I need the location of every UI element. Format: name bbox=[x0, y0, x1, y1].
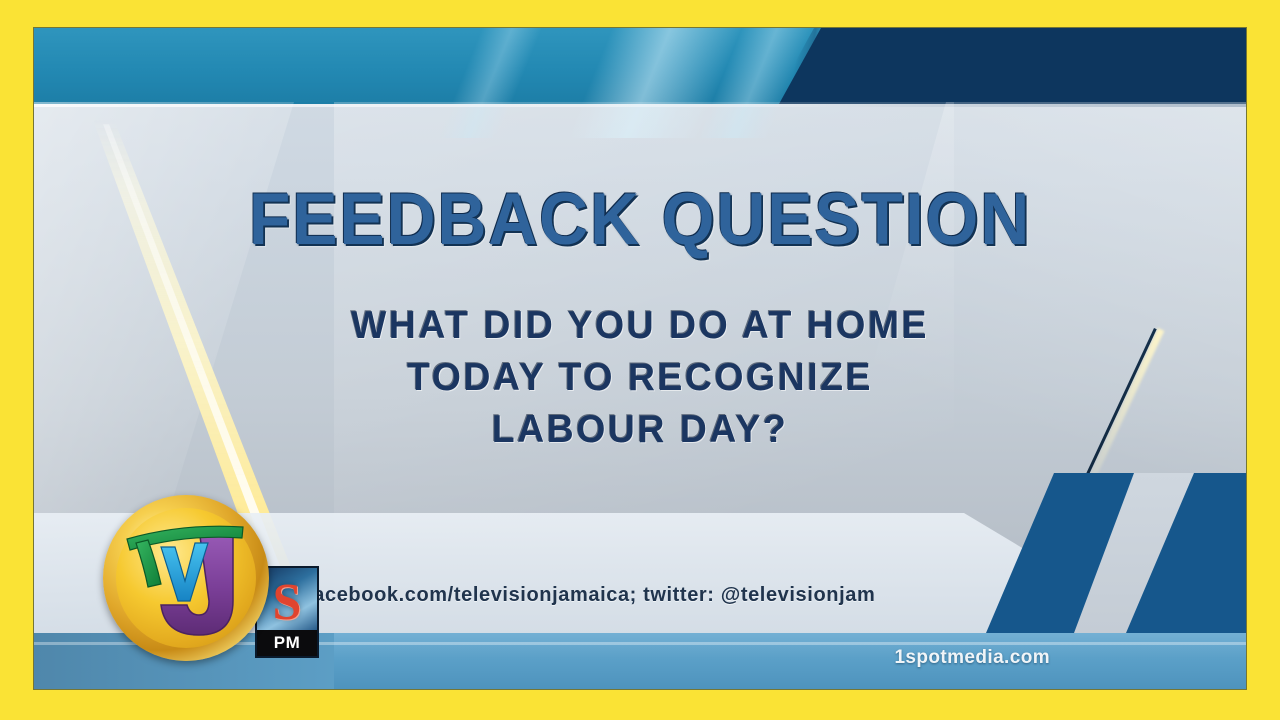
tvj-logo-letters bbox=[103, 495, 269, 661]
source-watermark: 1spotmedia.com bbox=[894, 647, 1050, 669]
question-line-2: TODAY TO RECOGNIZE bbox=[58, 352, 1222, 404]
yellow-border-frame: FEEDBACK QUESTION WHAT DID YOU DO AT HOM… bbox=[0, 0, 1280, 720]
header-band-navy bbox=[779, 28, 1246, 104]
tvj-letter-v-shape bbox=[161, 543, 208, 601]
question-line-1: WHAT DID YOU DO AT HOME bbox=[58, 300, 1222, 352]
question-line-3: LABOUR DAY? bbox=[58, 404, 1222, 456]
tvj-logo bbox=[103, 495, 269, 661]
page-title: FEEDBACK QUESTION bbox=[76, 178, 1203, 261]
social-handles-text: facebook.com/televisionjamaica; twitter:… bbox=[306, 584, 875, 607]
broadcast-graphic-stage: FEEDBACK QUESTION WHAT DID YOU DO AT HOM… bbox=[34, 28, 1246, 689]
feedback-question: WHAT DID YOU DO AT HOME TODAY TO RECOGNI… bbox=[34, 300, 1246, 456]
